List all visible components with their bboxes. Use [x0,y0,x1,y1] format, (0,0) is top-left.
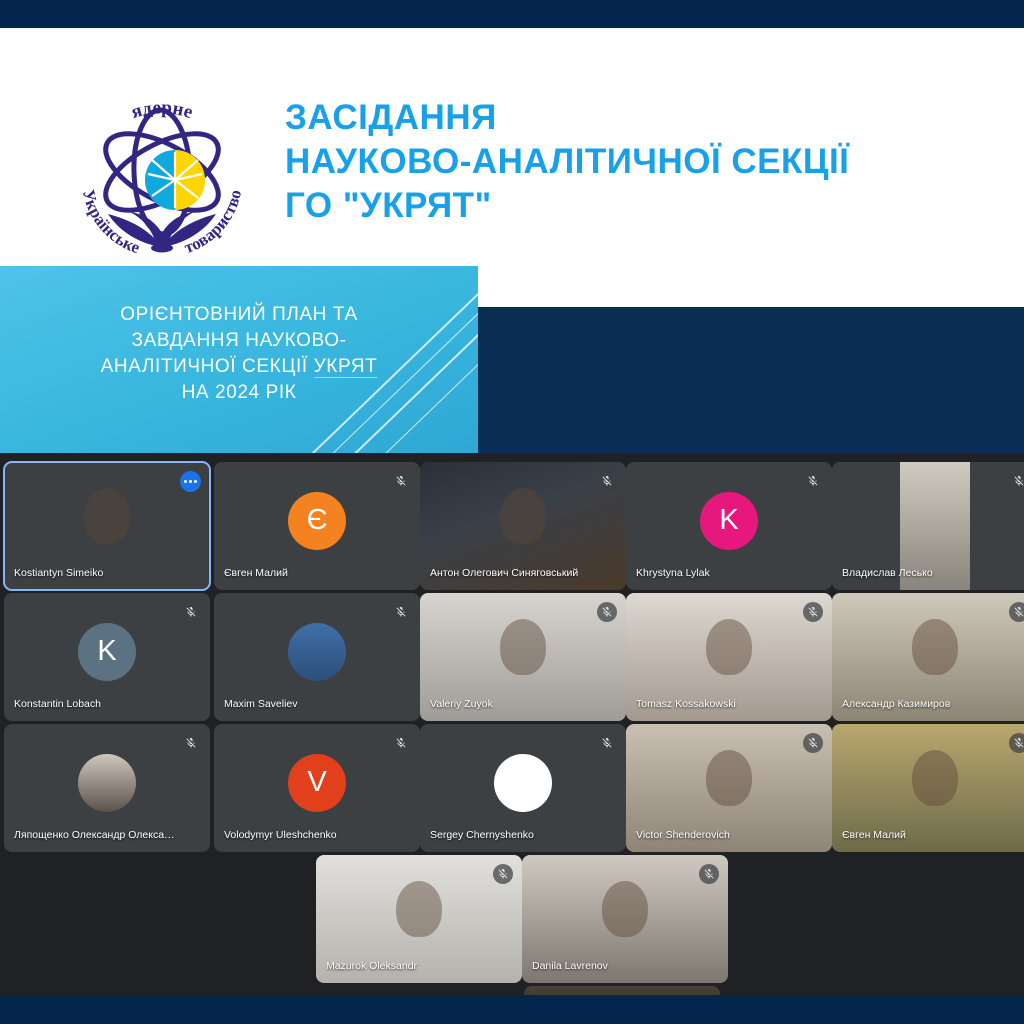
banner-line-3: АНАЛІТИЧНОЇ СЕКЦІЇ УКРЯТ [40,354,438,380]
avatar: K [700,492,758,550]
mic-muted-icon [803,471,823,491]
mic-muted-icon [803,733,823,753]
mic-muted-icon [699,864,719,884]
participant-tile[interactable]: Danila Lavrenov [522,855,728,983]
avatar-photo [78,754,136,812]
top-navy-bar [0,0,1024,28]
participant-tile[interactable]: Valeriy Zuyok [420,593,626,721]
participant-tile[interactable]: Владислав Лесько [832,462,1024,590]
mic-muted-icon [391,733,411,753]
participant-name: Konstantin Lobach [14,698,176,711]
mic-muted-icon [597,733,617,753]
slide-navy-block [478,307,1024,453]
participant-name: Ляпощенко Олександр Олександро... [14,829,176,842]
mic-muted-icon [1009,602,1024,622]
participant-tile[interactable]: ЄЄвген Малий [214,462,420,590]
ukrainian-nuclear-society-logo: ядерне Українське товариство [62,62,262,267]
bottom-navy-bar [0,995,1024,1024]
participant-tile[interactable]: KKonstantin Lobach [4,593,210,721]
participant-name: Mazurok Oleksandr [326,960,488,973]
title-line-1: ЗАСІДАННЯ [285,96,985,140]
participant-tile[interactable]: Євген Малий [832,724,1024,852]
participant-row: Ляпощенко Олександр Олександро...VVolody… [0,724,1024,852]
mic-muted-icon [803,602,823,622]
participant-name: Євген Малий [224,567,386,580]
avatar: V [288,754,346,812]
participant-grid: Kostiantyn SimeikoЄЄвген МалийАнтон Олег… [0,453,1024,995]
participant-name: Khrystyna Lylak [636,567,798,580]
participant-row: Kostiantyn SimeikoЄЄвген МалийАнтон Олег… [0,462,1024,590]
participant-tile[interactable]: Maxim Saveliev [214,593,420,721]
mic-muted-icon [391,471,411,491]
participant-silhouette [602,881,648,937]
participant-tile[interactable]: Victor Shenderovich [626,724,832,852]
participant-silhouette [706,619,752,675]
page-title: ЗАСІДАННЯ НАУКОВО-АНАЛІТИЧНОЇ СЕКЦІЇ ГО … [285,96,985,228]
avatar [288,623,346,681]
participant-name: Александр Казимиров [842,698,1004,711]
participant-silhouette [706,750,752,806]
participant-name: Kostiantyn Simeiko [14,567,176,580]
participant-name: Tomasz Kossakowski [636,698,798,711]
mic-muted-icon [1009,733,1024,753]
participant-name: Sergey Chernyshenko [430,829,592,842]
participant-row: KKonstantin LobachMaxim SavelievValeriy … [0,593,1024,721]
participant-tile[interactable]: VVolodymyr Uleshchenko [214,724,420,852]
participant-tile[interactable]: Sergey Chernyshenko [420,724,626,852]
participant-tile[interactable]: Ляпощенко Олександр Олександро... [4,724,210,852]
mic-muted-icon [597,602,617,622]
participant-silhouette [84,488,130,544]
title-line-3: ГО "УКРЯТ" [285,184,985,228]
mic-muted-icon [181,733,201,753]
svg-text:Українське: Українське [79,188,143,258]
mic-muted-icon [493,864,513,884]
avatar: K [78,623,136,681]
mic-muted-icon [391,602,411,622]
avatar [494,754,552,812]
banner-line-4: НА 2024 РІК [40,380,438,406]
banner-line-2: ЗАВДАННЯ НАУКОВО- [40,328,438,354]
presentation-screenshot: ядерне Українське товариство [0,0,1024,1024]
participant-silhouette [912,750,958,806]
participant-name: Danila Lavrenov [532,960,694,973]
participant-silhouette [500,619,546,675]
participant-name: Євген Малий [842,829,1004,842]
participant-tile[interactable]: Mazurok Oleksandr [316,855,522,983]
participant-tile[interactable]: Антон Олегович Синяговський [420,462,626,590]
avatar-photo [288,623,346,681]
mic-muted-icon [597,471,617,491]
participant-row: Mazurok OleksandrDanila Lavrenov [0,855,1024,983]
participant-silhouette [500,488,546,544]
participant-tile[interactable]: Kostiantyn Simeiko [4,462,210,590]
subtitle-banner: ОРІЄНТОВНИЙ ПЛАН ТА ЗАВДАННЯ НАУКОВО- АН… [0,266,478,453]
participant-name: Victor Shenderovich [636,829,798,842]
participant-silhouette [912,619,958,675]
participant-tile[interactable]: Tomasz Kossakowski [626,593,832,721]
avatar: Є [288,492,346,550]
banner-underlined-word: УКРЯТ [314,356,378,378]
avatar [78,754,136,812]
participant-name: Антон Олегович Синяговський [430,567,592,580]
title-line-2: НАУКОВО-АНАЛІТИЧНОЇ СЕКЦІЇ [285,140,985,184]
participant-name: Maxim Saveliev [224,698,386,711]
participant-tile[interactable]: KKhrystyna Lylak [626,462,832,590]
banner-line-1: ОРІЄНТОВНИЙ ПЛАН ТА [40,302,438,328]
participant-name: Владислав Лесько [842,567,1004,580]
participant-tile[interactable]: Александр Казимиров [832,593,1024,721]
more-options-icon[interactable] [180,471,201,492]
participant-silhouette [396,881,442,937]
participant-name: Valeriy Zuyok [430,698,592,711]
mic-muted-icon [1009,471,1024,491]
participant-name: Volodymyr Uleshchenko [224,829,386,842]
banner-text: ОРІЄНТОВНИЙ ПЛАН ТА ЗАВДАННЯ НАУКОВО- АН… [0,302,478,406]
mic-muted-icon [181,602,201,622]
